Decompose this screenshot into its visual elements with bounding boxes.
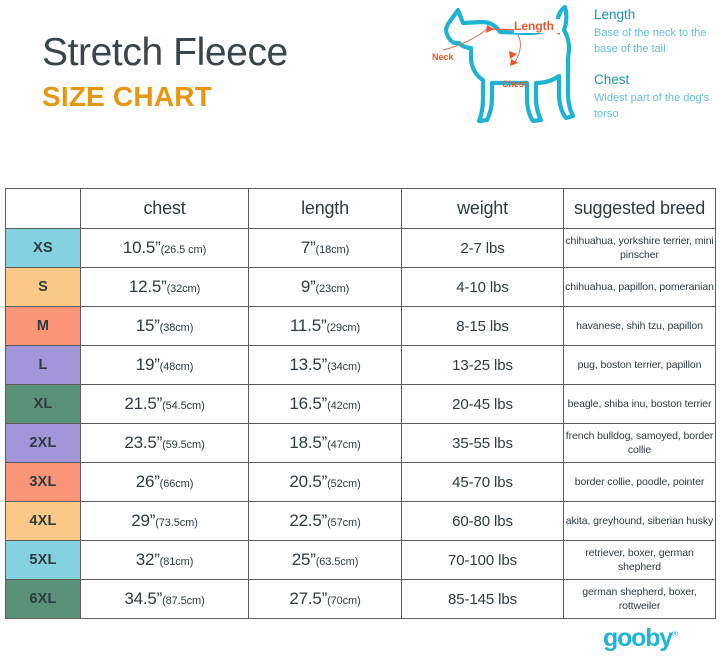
chest-inches: 21.5” [124,394,162,413]
chest-centimeters: (38cm) [160,322,194,334]
chest-centimeters: (32cm) [167,283,201,295]
brand-wordmark: gooby [603,624,672,652]
suggested-breed-value: german shepherd, boxer, rottweiler [564,580,716,619]
column-header-weight: weight [402,189,564,229]
measurement-legend: Length Base of the neck to the base of t… [594,7,718,137]
table-row: S12.5”(32cm)9”(23cm)4-10 lbschihuahua, p… [6,268,716,307]
length-value: 25”(63.5cm) [249,541,402,580]
size-label-l: L [6,346,81,385]
length-value: 22.5”(57cm) [249,502,402,541]
size-label-s: S [6,268,81,307]
length-inches: 22.5” [289,511,327,530]
dog-illustration-svg: Neck Length Chest [430,2,600,144]
column-header-size [6,189,81,229]
registered-trademark-icon: ® [672,630,678,639]
chest-value: 26”(66cm) [81,463,249,502]
length-value: 13.5”(34cm) [249,346,402,385]
size-label-m: M [6,307,81,346]
length-centimeters: (34cm) [327,361,361,373]
length-inches: 9” [301,277,316,296]
chest-arrow-up [510,59,518,66]
chest-value: 10.5”(26.5 cm) [81,229,249,268]
legend-heading-length: Length [594,7,718,24]
legend-heading-chest: Chest [594,72,718,89]
chest-inches: 19” [136,355,160,374]
column-header-breed: suggested breed [564,189,716,229]
weight-value: 13-25 lbs [402,346,564,385]
table-row: 2XL23.5”(59.5cm)18.5”(47cm)35-55 lbsfren… [6,424,716,463]
size-label-4xl: 4XL [6,502,81,541]
table-row: 5XL32”(81cm)25”(63.5cm)70-100 lbsretriev… [6,541,716,580]
size-label-xl: XL [6,385,81,424]
chest-value: 15”(38cm) [81,307,249,346]
weight-value: 60-80 lbs [402,502,564,541]
length-value: 20.5”(52cm) [249,463,402,502]
weight-value: 85-145 lbs [402,580,564,619]
chest-inches: 34.5” [124,589,162,608]
legend-body-length: Base of the neck to the base of the tail [594,26,718,58]
length-centimeters: (57cm) [327,517,361,529]
table-row: L19”(48cm)13.5”(34cm)13-25 lbspug, bosto… [6,346,716,385]
legend-item-length: Length Base of the neck to the base of t… [594,7,718,58]
length-value: 18.5”(47cm) [249,424,402,463]
page-title: Stretch Fleece [42,33,288,74]
chest-inches: 32” [136,550,160,569]
diagram-label-chest: Chest [502,79,527,89]
table-row: 3XL26”(66cm)20.5”(52cm)45-70 lbsborder c… [6,463,716,502]
chest-inches: 23.5” [124,433,162,452]
chest-value: 32”(81cm) [81,541,249,580]
size-label-3xl: 3XL [6,463,81,502]
chest-value: 23.5”(59.5cm) [81,424,249,463]
table-header: chest length weight suggested breed [6,189,716,229]
suggested-breed-value: havanese, shih tzu, papillon [564,307,716,346]
length-centimeters: (42cm) [327,400,361,412]
brand-name: gooby® [603,626,678,651]
length-inches: 20.5” [289,472,327,491]
chest-value: 29”(73.5cm) [81,502,249,541]
legend-body-chest: Widest part of the dog's torso [594,91,718,123]
length-centimeters: (18cm) [316,244,350,256]
chest-centimeters: (26.5 cm) [161,244,207,256]
title-block: Stretch Fleece SIZE CHART [42,33,288,111]
length-value: 9”(23cm) [249,268,402,307]
page-header: Stretch Fleece SIZE CHART Neck Length Ch… [0,0,720,180]
table-header-row: chest length weight suggested breed [6,189,716,229]
suggested-breed-value: pug, boston terrier, papillon [564,346,716,385]
length-centimeters: (47cm) [327,439,361,451]
chest-centimeters: (81cm) [160,556,194,568]
length-centimeters: (70cm) [327,595,361,607]
column-header-chest: chest [81,189,249,229]
weight-value: 4-10 lbs [402,268,564,307]
size-label-6xl: 6XL [6,580,81,619]
weight-value: 8-15 lbs [402,307,564,346]
chest-value: 19”(48cm) [81,346,249,385]
table-row: 4XL29”(73.5cm)22.5”(57cm)60-80 lbsakita,… [6,502,716,541]
suggested-breed-value: akita, greyhound, siberian husky [564,502,716,541]
suggested-breed-value: chihuahua, papillon, pomeranian [564,268,716,307]
suggested-breed-value: chihuahua, yorkshire terrier, mini pinsc… [564,229,716,268]
weight-value: 70-100 lbs [402,541,564,580]
length-inches: 18.5” [289,433,327,452]
table-row: M15”(38cm)11.5”(29cm)8-15 lbshavanese, s… [6,307,716,346]
length-value: 27.5”(70cm) [249,580,402,619]
length-centimeters: (63.5cm) [316,556,359,568]
weight-value: 35-55 lbs [402,424,564,463]
length-inches: 16.5” [289,394,327,413]
table-row: 6XL34.5”(87.5cm)27.5”(70cm)85-145 lbsger… [6,580,716,619]
chest-inches: 12.5” [129,277,167,296]
chest-centimeters: (59.5cm) [162,439,205,451]
length-centimeters: (52cm) [327,478,361,490]
size-chart-table: chest length weight suggested breed XS10… [5,188,716,619]
length-value: 7”(18cm) [249,229,402,268]
weight-value: 20-45 lbs [402,385,564,424]
size-label-5xl: 5XL [6,541,81,580]
chest-centimeters: (66cm) [160,478,194,490]
suggested-breed-value: french bulldog, samoyed, border collie [564,424,716,463]
length-inches: 7” [301,238,316,257]
chest-inches: 10.5” [123,238,161,257]
length-inches: 13.5” [289,355,327,374]
chest-value: 21.5”(54.5cm) [81,385,249,424]
length-value: 16.5”(42cm) [249,385,402,424]
gooby-logo: gooby® [603,626,703,654]
suggested-breed-value: border collie, poodle, pointer [564,463,716,502]
chest-inches: 29” [131,511,155,530]
length-centimeters: (23cm) [316,283,350,295]
chest-inches: 26” [136,472,160,491]
table-row: XS10.5”(26.5 cm)7”(18cm)2-7 lbschihuahua… [6,229,716,268]
chest-arrow-down [509,51,517,59]
length-value: 11.5”(29cm) [249,307,402,346]
table-row: XL21.5”(54.5cm)16.5”(42cm)20-45 lbsbeagl… [6,385,716,424]
diagram-label-neck: Neck [432,52,455,62]
length-inches: 27.5” [289,589,327,608]
length-inches: 25” [292,550,316,569]
page-subtitle: SIZE CHART [42,83,288,111]
size-label-xs: XS [6,229,81,268]
weight-value: 2-7 lbs [402,229,564,268]
chest-centimeters: (87.5cm) [162,595,205,607]
chest-centimeters: (54.5cm) [162,400,205,412]
chest-value: 12.5”(32cm) [81,268,249,307]
suggested-breed-value: retriever, boxer, german shepherd [564,541,716,580]
weight-value: 45-70 lbs [402,463,564,502]
suggested-breed-value: beagle, shiba inu, boston terrier [564,385,716,424]
legend-item-chest: Chest Widest part of the dog's torso [594,72,718,123]
column-header-length: length [249,189,402,229]
chest-centimeters: (73.5cm) [155,517,198,529]
chest-inches: 15” [136,316,160,335]
chest-value: 34.5”(87.5cm) [81,580,249,619]
chest-centimeters: (48cm) [160,361,194,373]
size-label-2xl: 2XL [6,424,81,463]
length-inches: 11.5” [290,316,327,335]
length-centimeters: (29cm) [326,322,360,334]
dog-measurement-diagram: Neck Length Chest [430,2,600,144]
diagram-label-length: Length [514,19,554,33]
table-body: XS10.5”(26.5 cm)7”(18cm)2-7 lbschihuahua… [6,229,716,619]
